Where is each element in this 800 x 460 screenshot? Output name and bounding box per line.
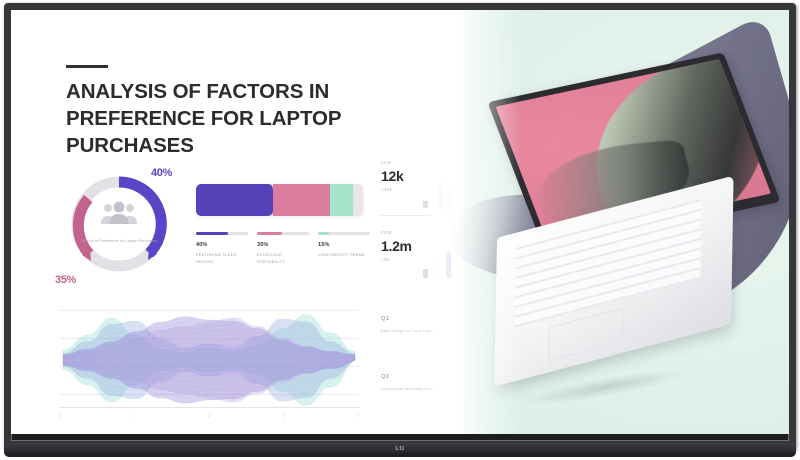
laptop-product-photo bbox=[431, 10, 789, 434]
stacked-bar-chart bbox=[196, 184, 363, 216]
donut-center-caption: Factors in Preference for Laptop Purchas… bbox=[80, 239, 158, 245]
donut-secondary-percent: 35% bbox=[55, 265, 76, 289]
legend-item: 15% LIGHTWEIGHT FRAME bbox=[318, 232, 370, 265]
legend-track bbox=[257, 232, 309, 235]
wave-area-chart: 0 1 2 3 4 bbox=[59, 300, 359, 420]
people-group-icon bbox=[99, 201, 139, 225]
donut-secondary-suffix: % bbox=[66, 274, 75, 286]
page-title: ANALYSIS OF FACTORS IN PREFERENCE FOR LA… bbox=[66, 78, 456, 159]
legend-track-fill bbox=[196, 232, 228, 235]
donut-primary-percent: 40% bbox=[151, 158, 172, 182]
donut-primary-suffix: % bbox=[162, 167, 171, 179]
stacked-bar-segment-design bbox=[196, 184, 273, 216]
title-rule bbox=[66, 65, 108, 68]
donut-secondary-value: 35 bbox=[55, 274, 66, 286]
monitor-screen: ANALYSIS OF FACTORS IN PREFERENCE FOR LA… bbox=[11, 10, 789, 434]
monitor-chin: LG bbox=[4, 443, 796, 457]
wave-tick: 3 bbox=[283, 414, 285, 418]
photo-gradient-fade bbox=[431, 10, 521, 434]
laptop-illustration bbox=[487, 62, 743, 382]
wave-chart-ticks: 0 1 2 3 4 bbox=[59, 414, 359, 418]
legend-value: 35% bbox=[257, 242, 309, 248]
wave-chart-svg bbox=[59, 300, 359, 420]
donut-segment-secondary bbox=[78, 199, 89, 254]
legend-track bbox=[196, 232, 248, 235]
wave-tick: 0 bbox=[59, 414, 61, 418]
wave-tick: 1 bbox=[134, 414, 136, 418]
infographic-panel: ANALYSIS OF FACTORS IN PREFERENCE FOR LA… bbox=[11, 10, 463, 434]
wave-tick: 2 bbox=[208, 414, 210, 418]
legend-track-fill bbox=[257, 232, 282, 235]
legend-item: 35% EXCELLENT PORTABILITY bbox=[257, 232, 309, 265]
legend-label: EXCELLENT PORTABILITY bbox=[257, 251, 309, 265]
legend-track-fill bbox=[318, 232, 329, 235]
legend-label: FEATURING SLEEK DESIGN bbox=[196, 251, 248, 265]
legend-label: LIGHTWEIGHT FRAME bbox=[318, 251, 370, 258]
stacked-bar-segment-lightweight bbox=[330, 184, 353, 216]
donut-chart: Factors in Preference for Laptop Purchas… bbox=[63, 168, 175, 280]
stacked-bar-segment-portability bbox=[273, 184, 330, 216]
legend-track bbox=[318, 232, 370, 235]
brand-logo: LG bbox=[395, 446, 404, 452]
wave-tick: 4 bbox=[357, 414, 359, 418]
monitor-device: ANALYSIS OF FACTORS IN PREFERENCE FOR LA… bbox=[0, 0, 800, 460]
legend-value: 40% bbox=[196, 242, 248, 248]
spark-bar bbox=[423, 269, 428, 278]
donut-primary-value: 40 bbox=[151, 167, 162, 179]
legend-value: 15% bbox=[318, 242, 370, 248]
wave-chart-axis bbox=[59, 407, 359, 408]
stacked-bar-legend: 40% FEATURING SLEEK DESIGN 35% EXCELLENT… bbox=[196, 232, 371, 265]
legend-item: 40% FEATURING SLEEK DESIGN bbox=[196, 232, 248, 265]
spark-bar bbox=[423, 201, 428, 208]
